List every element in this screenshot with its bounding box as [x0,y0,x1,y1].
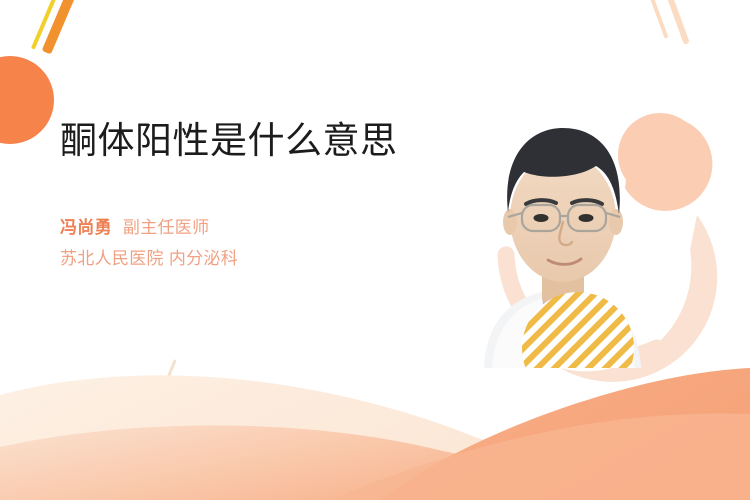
orange-circle-decoration [0,56,54,144]
doctor-video-cover-card: 酮体阳性是什么意思 冯尚勇副主任医师 苏北人民医院 内分泌科 [0,0,750,500]
doctor-portrait-illustration [462,100,667,368]
wave-light-decoration [0,375,750,500]
wave-strong-decoration [380,368,750,500]
stripe-peach-b-icon [660,0,690,45]
doctor-title: 副主任医师 [112,218,210,237]
cover-text-block: 酮体阳性是什么意思 冯尚勇副主任医师 苏北人民医院 内分泌科 [60,120,420,275]
doctor-name-line: 冯尚勇副主任医师 [60,212,420,243]
hospital-and-department: 苏北人民医院 内分泌科 [60,243,420,274]
stripe-peach-a-icon [644,0,669,39]
stripe-group-top-left [31,0,84,55]
stripe-group-top-right [644,0,690,45]
ear-right [609,209,623,235]
wave-mid-decoration [0,425,750,500]
ear-left [503,209,517,235]
stripe-faint-bottom-right-icon [449,439,464,471]
doctor-name: 冯尚勇 [60,218,112,237]
eye-left [534,214,549,222]
doctor-credentials: 冯尚勇副主任医师 苏北人民医院 内分泌科 [60,212,420,275]
doctor-portrait [462,100,667,368]
eye-right [579,214,594,222]
wave-accent-decoration [330,414,750,500]
page-title: 酮体阳性是什么意思 [60,120,420,162]
stripe-orange-icon [42,0,85,55]
stripe-faint-bottom-left-icon [158,359,177,399]
stripe-yellow-icon [31,0,65,50]
